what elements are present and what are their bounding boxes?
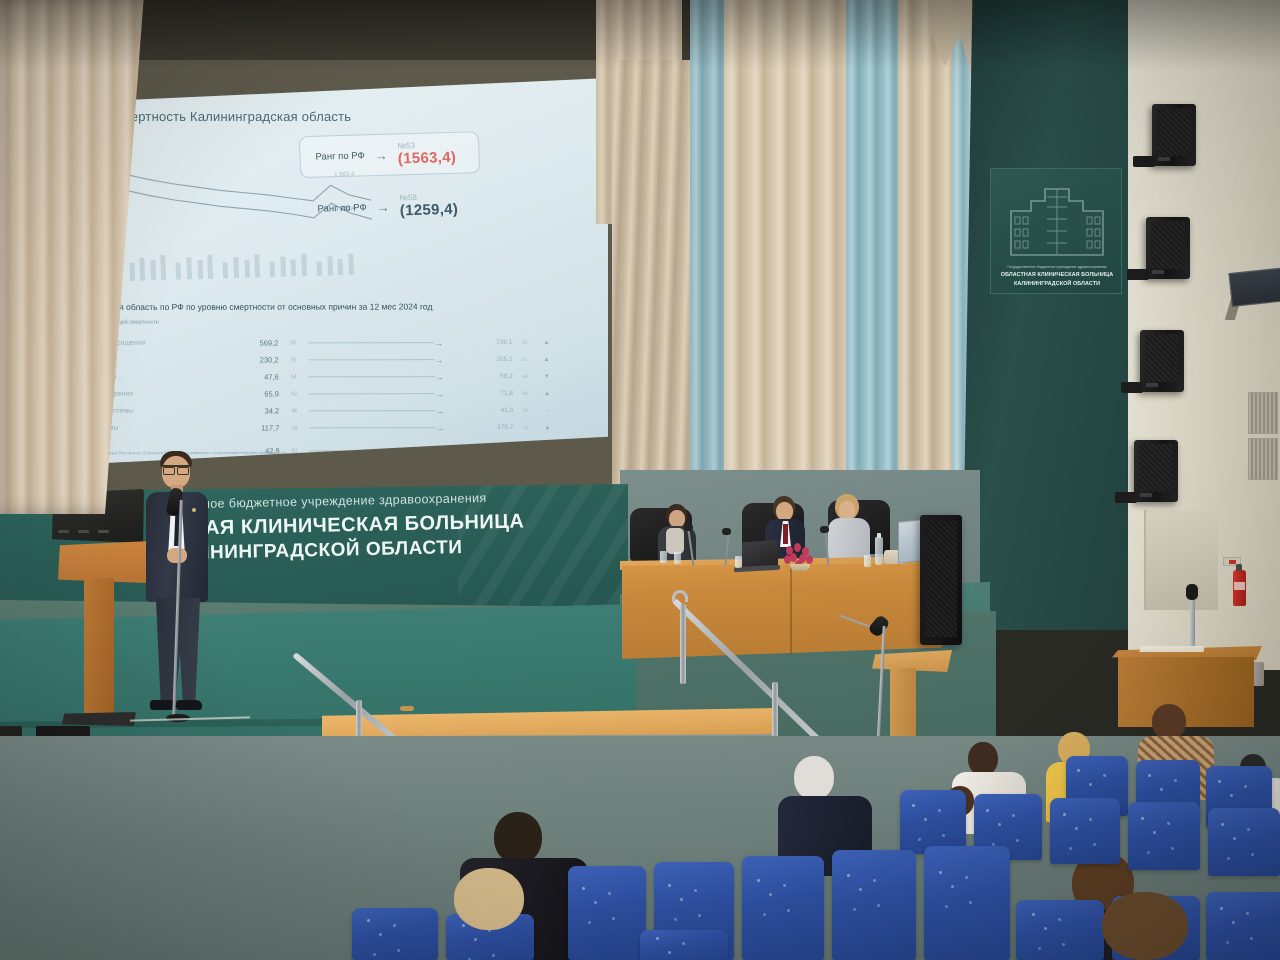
rank-row-2: Ранг по РФ → №58 (1259,4): [317, 192, 458, 223]
lapel-pin-icon: [192, 508, 196, 512]
seat[interactable]: [352, 908, 438, 960]
speaker-grille-icon: [1151, 221, 1185, 269]
handrail-post-right-1: [680, 604, 686, 684]
rank-label-1: Ранг по РФ: [315, 150, 365, 162]
speaker-bracket-3: [1121, 382, 1143, 393]
logo-line-1: ОБЛАСТНАЯ КЛИНИЧЕСКАЯ БОЛЬНИЦА: [993, 272, 1121, 278]
row-connector: [309, 393, 435, 394]
row-value: 117,7: [227, 424, 279, 433]
arrow-right-icon: →: [435, 372, 457, 382]
head: [1152, 704, 1186, 740]
row-rank: 54: [279, 374, 309, 380]
trend-icon: ▲: [537, 357, 557, 363]
rank-value-group-2: №58 (1259,4): [399, 192, 458, 221]
drinking-glass-4: [864, 555, 871, 567]
trend-icon: ▲: [537, 391, 557, 397]
flower-arrangement: [782, 542, 816, 568]
exit-icon: [1229, 560, 1236, 564]
glasses-icon: [163, 465, 189, 471]
row-rank2: 44: [513, 391, 537, 397]
hospital-logo-panel: Государственное бюджетное учреждение здр…: [990, 168, 1122, 294]
papers-on-table: [1139, 646, 1204, 652]
right-pillar: [962, 0, 1137, 630]
podium-base: [62, 712, 136, 726]
speaker-bracket-1: [1133, 156, 1155, 167]
curtain-center: [612, 60, 696, 540]
panelist-center-tie: [783, 524, 788, 544]
pa-speaker-stage: [920, 515, 962, 645]
rank-row-1: Ранг по РФ → №53 (1563,4): [315, 140, 456, 171]
row-value: 34,2: [227, 407, 279, 416]
handrail-knob-left: [400, 706, 414, 711]
arrow-right-icon: →: [434, 338, 456, 348]
hospital-building-icon: [1001, 177, 1113, 259]
trend-icon: ▼: [537, 374, 557, 380]
row-value2: 58,2: [457, 373, 513, 380]
table-mic-head: [1186, 584, 1198, 600]
wall-niche: [1144, 510, 1218, 610]
presidium-mic-head-3: [820, 526, 829, 533]
seat[interactable]: [924, 846, 1010, 960]
seat[interactable]: [1208, 808, 1280, 876]
seat[interactable]: [1050, 798, 1120, 864]
logo-line-2: КАЛИНИНГРАДСКОЙ ОБЛАСТИ: [993, 281, 1121, 287]
row-connector: [308, 342, 434, 343]
wall-speaker-4: [1134, 440, 1178, 502]
head: [1102, 892, 1188, 960]
row-value2: 71,8: [457, 390, 513, 397]
row-rank: 19: [279, 425, 309, 431]
row-connector: [309, 427, 435, 428]
rank-label-2: Ранг по РФ: [317, 202, 367, 214]
presidium-mic-head-2: [722, 528, 731, 535]
water-bottle: [875, 537, 883, 565]
row-connector: [309, 376, 435, 377]
seat[interactable]: [568, 866, 646, 960]
monitor-buttons[interactable]: [58, 530, 138, 533]
presidium-mic-head-1: [684, 524, 693, 531]
speaker-grille-icon: [1145, 334, 1179, 382]
handrail-curl-right: [672, 590, 688, 602]
row-value: 230,2: [226, 356, 278, 365]
head: [454, 868, 524, 930]
row-rank2: 38: [513, 408, 537, 414]
row-rank2: 12: [513, 425, 537, 431]
rank-value-group-1: №53 (1563,4): [397, 140, 456, 169]
rank-figure-1: (1563,4): [398, 149, 457, 168]
row-rank: 42: [279, 391, 309, 397]
speaker-bracket-4: [1115, 492, 1137, 503]
head: [968, 742, 998, 776]
podium-top: [58, 541, 150, 583]
arrow-right-icon: →: [374, 148, 388, 163]
seat[interactable]: [832, 850, 916, 960]
speaker-grille-icon: [1157, 108, 1191, 156]
row-value: 65,9: [227, 390, 279, 399]
row-rank: 46: [279, 408, 309, 414]
row-value2: 265,1: [457, 356, 513, 363]
side-table-body: [1118, 657, 1254, 727]
panelist-left-scarf: [666, 528, 684, 554]
row-connector: [309, 359, 435, 360]
seat[interactable]: [1206, 892, 1280, 960]
trend-icon: ▲: [536, 340, 556, 346]
presidium-table-seam: [790, 566, 792, 654]
arrow-right-icon: →: [435, 406, 457, 416]
trend-icon: ▲: [537, 425, 557, 431]
head: [494, 812, 542, 864]
wall-monitor: [1228, 267, 1280, 307]
row-value2: 175,7: [457, 424, 513, 431]
row-rank2: 39: [512, 340, 536, 346]
trend-icon: –: [537, 408, 557, 414]
row-connector: [309, 410, 435, 411]
wall-speaker-1: [1152, 104, 1196, 166]
row-value2: 41,6: [457, 407, 513, 414]
fire-extinguisher: [1233, 570, 1246, 606]
arrow-right-icon: →: [435, 423, 457, 433]
flower-vase: [790, 564, 810, 571]
auditorium-scene: зованная смертность Калининградская обла…: [0, 0, 1280, 960]
presidium-table: [622, 563, 942, 659]
row-rank2: 31: [513, 357, 537, 363]
drinking-glass-3: [735, 556, 742, 568]
logo-small-text: Государственное бюджетное учреждение здр…: [995, 265, 1119, 269]
seat[interactable]: [742, 856, 824, 960]
wall-speaker-3: [1140, 330, 1184, 392]
speaker-bracket-2: [1127, 269, 1149, 280]
presenter-shoe-right: [176, 700, 202, 710]
arrow-right-icon-2: →: [376, 200, 390, 215]
row-rank2: 49: [513, 374, 537, 380]
row-rank: 25: [279, 357, 309, 363]
speaker-grille-icon: [1139, 444, 1173, 492]
row-value: 569,2: [226, 339, 278, 348]
head: [794, 756, 834, 800]
row-value: 47,6: [227, 373, 279, 382]
arrow-right-icon: →: [435, 389, 457, 399]
drinking-glass-1: [660, 551, 667, 563]
seat[interactable]: [640, 930, 728, 960]
banner-line-3: ЛИНИНГРАДСКОЙ ОБЛАСТИ: [182, 537, 463, 565]
row-value2: 736,1: [456, 339, 512, 346]
rank-figure-2: (1259,4): [400, 201, 459, 220]
row-rank: 30: [278, 340, 308, 346]
seat[interactable]: [1016, 900, 1104, 960]
wall-speaker-2: [1146, 217, 1190, 279]
seat[interactable]: [900, 790, 966, 854]
seat[interactable]: [1128, 802, 1200, 870]
podium-column: [84, 578, 114, 718]
ventilation-grille-1: [1248, 392, 1278, 434]
banner-line-1: чное бюджетное учреждение здравоохранени…: [196, 491, 487, 511]
drinking-glass-2: [674, 552, 681, 564]
arrow-right-icon: →: [435, 355, 457, 365]
ventilation-grille-2: [1248, 438, 1278, 480]
